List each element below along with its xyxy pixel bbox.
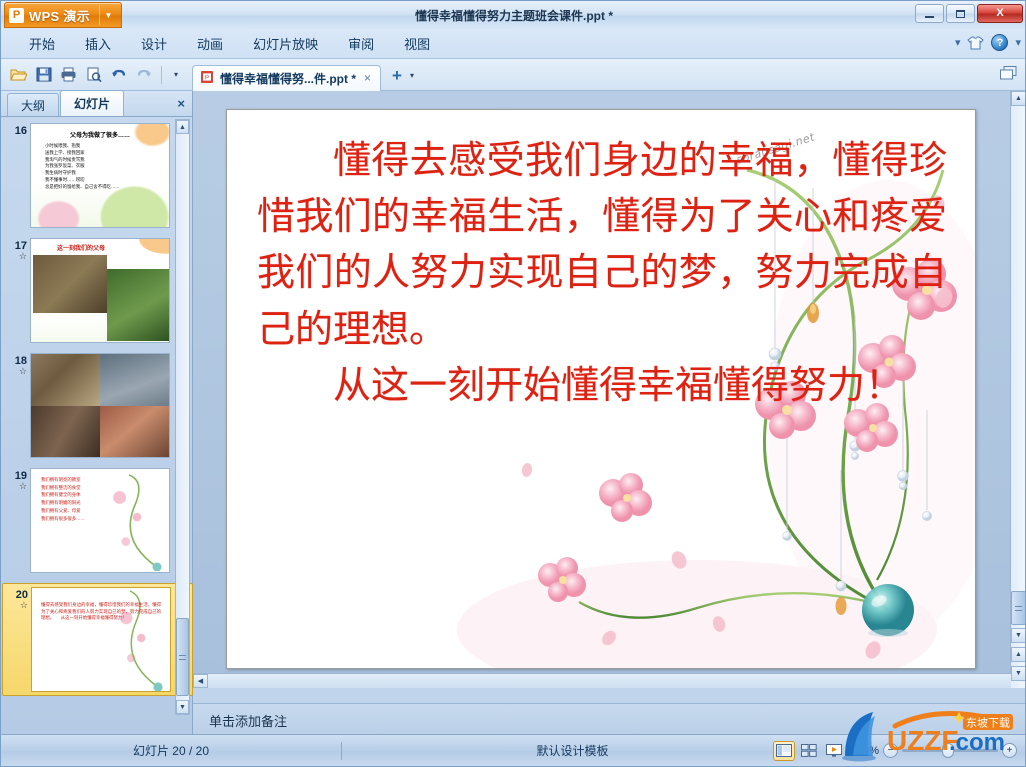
- zoom-in-button[interactable]: +: [1002, 743, 1017, 758]
- slide-indicator: 幻灯片 20 / 20: [1, 742, 341, 759]
- ribbon-tab-bar: 开始 插入 设计 动画 幻灯片放映 审阅 视图 ▾ ? ▾: [1, 29, 1026, 59]
- customize-qat-caret-icon[interactable]: ▾: [168, 64, 184, 86]
- mini-slide-17: 这一刻我们的父母: [31, 239, 169, 342]
- mini-title: 这一刻我们的父母: [57, 243, 105, 252]
- document-tab-label: 懂得幸福懂得努...件.ppt *: [220, 70, 356, 87]
- previous-slide-button[interactable]: ▲: [1011, 647, 1026, 662]
- slide-number: 16: [5, 123, 27, 228]
- scroll-up-icon[interactable]: ▲: [176, 120, 189, 134]
- dropdown-arrow-icon[interactable]: ▾: [1015, 36, 1021, 49]
- status-bar: 幻灯片 20 / 20 默认设计模板 73% − +: [1, 734, 1026, 766]
- mini-bullet: 我们拥有父爱、母爱: [41, 507, 163, 515]
- mini-body: 懂得去感受我们身边的幸福，懂得珍惜我们的幸福生活，懂得为了关心和疼爱我们的人努力…: [32, 588, 170, 622]
- zoom-level-label: 73%: [849, 745, 879, 757]
- mini-bullet: 我们拥有明媚的阳光: [41, 499, 163, 507]
- slide-number: 18 ☆: [5, 353, 27, 458]
- slide-thumbnail-20[interactable]: 20 ☆ 懂得去感受我们身边的幸福，懂得珍惜我们的幸福生活，懂得为了关心和疼爱我…: [2, 583, 193, 696]
- document-tab[interactable]: P 懂得幸福懂得努...件.ppt * ×: [192, 65, 381, 91]
- tab-start[interactable]: 开始: [15, 30, 69, 57]
- slide-thumbnail-16[interactable]: 16 父母为我做了很多…… 小时候喂我、抱我 送我上学、接我回家 我淘气的时候责…: [5, 123, 193, 228]
- slide-text-body[interactable]: 懂得去感受我们身边的幸福，懂得珍惜我们的幸福生活，懂得为了关心和疼爱我们的人努力…: [257, 132, 947, 413]
- ribbon-right-icons: ▾ ? ▾: [955, 34, 1021, 51]
- slide-edit-area: sorausagi.net 懂得去感受我们身边的幸福，懂得珍惜我们的幸福生活，懂…: [193, 91, 1026, 688]
- mini-bullet: 我们拥有很多很多……: [41, 515, 163, 523]
- view-buttons: [773, 741, 849, 761]
- animation-star-icon: ☆: [5, 252, 27, 262]
- save-icon[interactable]: [32, 63, 55, 86]
- slide-thumbnail-list[interactable]: 16 父母为我做了很多…… 小时候喂我、抱我 送我上学、接我回家 我淘气的时候责…: [1, 117, 193, 717]
- animation-star-icon: ☆: [5, 367, 27, 377]
- slide-number: 20 ☆: [6, 587, 28, 692]
- mini-slide-19: 我们拥有明亮的教室 我们拥有整洁的食堂 我们拥有健全的身体 我们拥有明媚的阳光 …: [31, 469, 169, 572]
- mini-slide-16: 父母为我做了很多…… 小时候喂我、抱我 送我上学、接我回家 我淘气的时候责骂我 …: [31, 124, 169, 227]
- mini-bullet: 我们拥有健全的身体: [41, 491, 163, 499]
- notes-pane[interactable]: 单击添加备注: [193, 703, 1026, 736]
- mini-bullet: 小时候喂我、抱我: [45, 143, 163, 150]
- design-template-name: 默认设计模板: [342, 742, 773, 759]
- slide-number: 17 ☆: [5, 238, 27, 343]
- zoom-slider-handle[interactable]: [942, 743, 954, 758]
- slide-thumbnail-image[interactable]: 父母为我做了很多…… 小时候喂我、抱我 送我上学、接我回家 我淘气的时候责骂我 …: [30, 123, 170, 228]
- slides-pane-tabs: 大纲 幻灯片 ×: [1, 91, 192, 117]
- mini-bullet: 总是把好的留给我、自己舍不得吃……: [45, 184, 163, 191]
- wps-presentation-window: 懂得幸福懂得努力主题班会课件.ppt * P WPS 演示 ▼ X 开始 插入 …: [0, 0, 1026, 767]
- restore-window-icon[interactable]: [999, 65, 1019, 84]
- scroll-left-icon[interactable]: ◀: [193, 674, 208, 688]
- ppt-file-icon: P: [200, 70, 214, 87]
- skin-tshirt-icon[interactable]: [967, 36, 984, 50]
- app-menu-caret-icon[interactable]: ▼: [99, 5, 117, 25]
- mini-slide-20: 懂得去感受我们身边的幸福，懂得珍惜我们的幸福生活，懂得为了关心和疼爱我们的人努力…: [32, 588, 170, 691]
- slide-paragraph-1: 懂得去感受我们身边的幸福，懂得珍惜我们的幸福生活，懂得为了关心和疼爱我们的人努力…: [257, 132, 947, 357]
- pane-tab-slides[interactable]: 幻灯片: [60, 90, 124, 116]
- new-tab-caret-icon[interactable]: ▾: [404, 65, 420, 87]
- mini-bullet: 我们拥有明亮的教室: [41, 476, 163, 484]
- notes-placeholder: 单击添加备注: [209, 711, 287, 730]
- tab-insert[interactable]: 插入: [71, 30, 125, 57]
- slide-thumbnail-19[interactable]: 19 ☆ 我们拥有明亮的教室 我们拥有整洁的食堂: [5, 468, 193, 573]
- scroll-down-icon[interactable]: ▼: [176, 700, 189, 714]
- tab-animation[interactable]: 动画: [183, 30, 237, 57]
- slide-thumbnail-image[interactable]: 我们拥有明亮的教室 我们拥有整洁的食堂 我们拥有健全的身体 我们拥有明媚的阳光 …: [30, 468, 170, 573]
- slide-vertical-scrollbar[interactable]: ▲ ▼ ▲ ▼: [1010, 91, 1026, 688]
- wps-app-button[interactable]: P WPS 演示 ▼: [4, 2, 122, 28]
- scrollbar-thumb[interactable]: [176, 618, 189, 696]
- window-title: 懂得幸福懂得努力主题班会课件.ppt *: [1, 1, 1026, 29]
- zoom-slider-track[interactable]: [902, 749, 998, 752]
- maximize-button[interactable]: [946, 4, 975, 23]
- open-icon[interactable]: [7, 63, 30, 86]
- mini-bullet: 我们拥有整洁的食堂: [41, 484, 163, 492]
- slides-pane: 大纲 幻灯片 × 16 父母为我做了很多…… 小时候喂我、抱我 送我上学、接我回…: [1, 91, 193, 736]
- print-icon[interactable]: [57, 63, 80, 86]
- mini-slide-18: [31, 354, 169, 457]
- mini-bullet: 我不懂事时……唠叨: [45, 177, 163, 184]
- slides-pane-scrollbar[interactable]: ▲ ▼: [175, 119, 190, 715]
- redo-icon[interactable]: [132, 63, 155, 86]
- minimize-button[interactable]: [915, 4, 944, 23]
- close-button[interactable]: X: [977, 4, 1023, 23]
- slide-horizontal-scrollbar[interactable]: ◀: [193, 673, 1011, 688]
- slide-thumbnail-image[interactable]: 懂得去感受我们身边的幸福，懂得珍惜我们的幸福生活，懂得为了关心和疼爱我们的人努力…: [31, 587, 171, 692]
- print-preview-icon[interactable]: [82, 63, 105, 86]
- new-document-tab-button[interactable]: + ▾: [389, 65, 423, 87]
- help-icon[interactable]: ?: [991, 34, 1008, 51]
- normal-view-button[interactable]: [773, 741, 795, 761]
- slideshow-view-button[interactable]: [823, 741, 845, 761]
- document-tab-close-icon[interactable]: ×: [362, 71, 373, 85]
- tab-review[interactable]: 审阅: [334, 30, 388, 57]
- svg-text:P: P: [205, 75, 209, 81]
- slide-thumbnail-17[interactable]: 17 ☆ 这一刻我们的父母: [5, 238, 193, 343]
- tab-view[interactable]: 视图: [390, 30, 444, 57]
- chevron-down-icon[interactable]: ▾: [955, 36, 961, 49]
- title-bar: 懂得幸福懂得努力主题班会课件.ppt * P WPS 演示 ▼ X: [1, 1, 1026, 29]
- zoom-out-button[interactable]: −: [883, 743, 898, 758]
- slide-number: 19 ☆: [5, 468, 27, 573]
- scroll-down-icon[interactable]: ▼: [1011, 628, 1026, 643]
- animation-star-icon: ☆: [6, 601, 28, 611]
- next-slide-button[interactable]: ▼: [1011, 666, 1026, 681]
- animation-star-icon: ☆: [5, 482, 27, 492]
- wps-presentation-icon: P: [9, 8, 24, 23]
- tab-slideshow[interactable]: 幻灯片放映: [239, 30, 332, 57]
- wps-app-button-label: WPS 演示: [29, 6, 94, 25]
- slide-thumbnail-image[interactable]: 这一刻我们的父母: [30, 238, 170, 343]
- slide-paragraph-2: 从这一刻开始懂得幸福懂得努力！: [257, 357, 947, 413]
- current-slide[interactable]: sorausagi.net 懂得去感受我们身边的幸福，懂得珍惜我们的幸福生活，懂…: [226, 109, 976, 669]
- scrollbar-thumb[interactable]: [1011, 591, 1026, 625]
- close-pane-icon[interactable]: ×: [177, 96, 185, 111]
- tab-design[interactable]: 设计: [127, 30, 181, 57]
- scroll-up-icon[interactable]: ▲: [1011, 91, 1026, 106]
- zoom-control[interactable]: 73% − +: [849, 743, 1026, 758]
- window-controls: X: [915, 4, 1023, 23]
- slide-sorter-view-button[interactable]: [798, 741, 820, 761]
- mini-bullet: 送我上学、接我回家: [45, 150, 163, 157]
- slide-thumbnail-image[interactable]: [30, 353, 170, 458]
- slide-thumbnail-18[interactable]: 18 ☆: [5, 353, 193, 458]
- plus-icon: +: [392, 67, 402, 84]
- quick-access-toolbar: ▾ P 懂得幸福懂得努...件.ppt * × + ▾: [1, 59, 1026, 91]
- mini-title: 父母为我做了很多……: [31, 124, 169, 139]
- pane-tab-outline[interactable]: 大纲: [7, 93, 59, 116]
- undo-icon[interactable]: [107, 63, 130, 86]
